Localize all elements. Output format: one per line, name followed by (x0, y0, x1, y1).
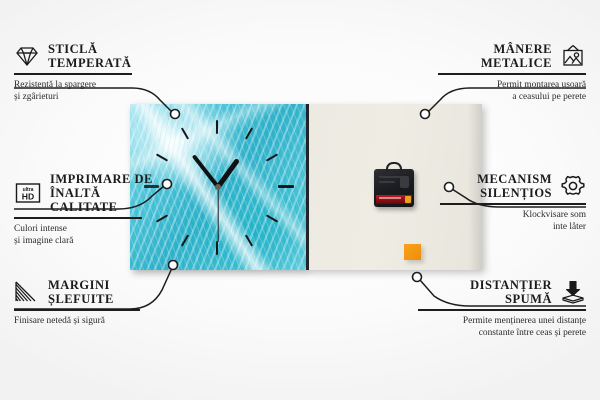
mechanism-hanging-loop (386, 162, 402, 172)
clock-tick (181, 127, 189, 139)
feature-title: STICLĂ TEMPERATĂ (48, 42, 131, 70)
diamond-icon (14, 44, 40, 68)
clock-tick (156, 153, 168, 161)
divider (14, 73, 132, 75)
divider (418, 309, 586, 311)
clock-face (130, 104, 306, 270)
clock-minute-hand (192, 154, 220, 188)
clock-tick (245, 127, 253, 139)
arrow-down-stack-icon (560, 280, 586, 304)
feature-description: Permit montarea ușoară a ceasului pe per… (438, 79, 586, 103)
feature-title: MARGINI ȘLEFUITE (48, 278, 114, 306)
gear-icon (560, 174, 586, 198)
mechanism-detail (400, 176, 409, 188)
clock-second-hand (217, 187, 218, 242)
ultra-hd-large-text: HD (22, 191, 34, 201)
divider (14, 309, 140, 311)
feature-title: DISTANȚIER SPUMĂ (470, 278, 552, 306)
battery-positive-terminal (405, 196, 411, 203)
clock-tick (216, 241, 218, 255)
clock-tick (266, 153, 278, 161)
clock-tick (156, 214, 168, 222)
clock-tick (216, 120, 218, 134)
clock-tick (266, 214, 278, 222)
feature-description: Klockvisare som inte låter (440, 209, 586, 233)
feature-callout-margini-slefuite: MARGINI ȘLEFUITE Finisare netedă și sigu… (14, 278, 146, 327)
feature-callout-distantier-spuma: DISTANȚIER SPUMĂ Permite menținerea unei… (418, 278, 586, 339)
feature-description: Rezistentă la spargere și zgârieturi (14, 79, 146, 103)
clock-tick (245, 234, 253, 246)
clock-tick (144, 185, 159, 188)
feature-description: Finisare netedă și sigură (14, 315, 146, 327)
feature-title: MÂNERE METALICE (481, 42, 552, 70)
divider (440, 203, 586, 205)
feature-callout-mecanism-silentios: MECANISM SILENȚIOS Klockvisare som inte … (440, 172, 586, 233)
picture-frame-hanging-icon (560, 44, 586, 68)
infographic-stage: STICLĂ TEMPERATĂ Rezistentă la spargere … (0, 0, 600, 400)
feature-callout-manere-metalice: MÂNERE METALICE Permit montarea ușoară a… (438, 42, 586, 103)
clock-center-cap (215, 184, 221, 190)
clock-front-panel (130, 104, 306, 270)
foam-spacer (404, 244, 421, 260)
clock-battery (376, 195, 412, 204)
ultra-hd-icon: ultra HD (14, 181, 42, 205)
mechanism-detail (379, 181, 395, 183)
divider (438, 73, 586, 75)
feature-callout-sticla-temperata: STICLĂ TEMPERATĂ Rezistentă la spargere … (14, 42, 146, 103)
clock-tick (181, 234, 189, 246)
mechanism-detail (379, 176, 401, 178)
feature-title: MECANISM SILENȚIOS (477, 172, 552, 200)
clock-mechanism (374, 169, 414, 207)
feature-description: Permite menținerea unei distanțe constan… (418, 315, 586, 339)
bevel-hatch-icon (14, 280, 40, 304)
divider (14, 217, 142, 219)
clock-tick (278, 185, 294, 188)
battery-label-strip (379, 197, 401, 199)
product-image (130, 104, 482, 270)
